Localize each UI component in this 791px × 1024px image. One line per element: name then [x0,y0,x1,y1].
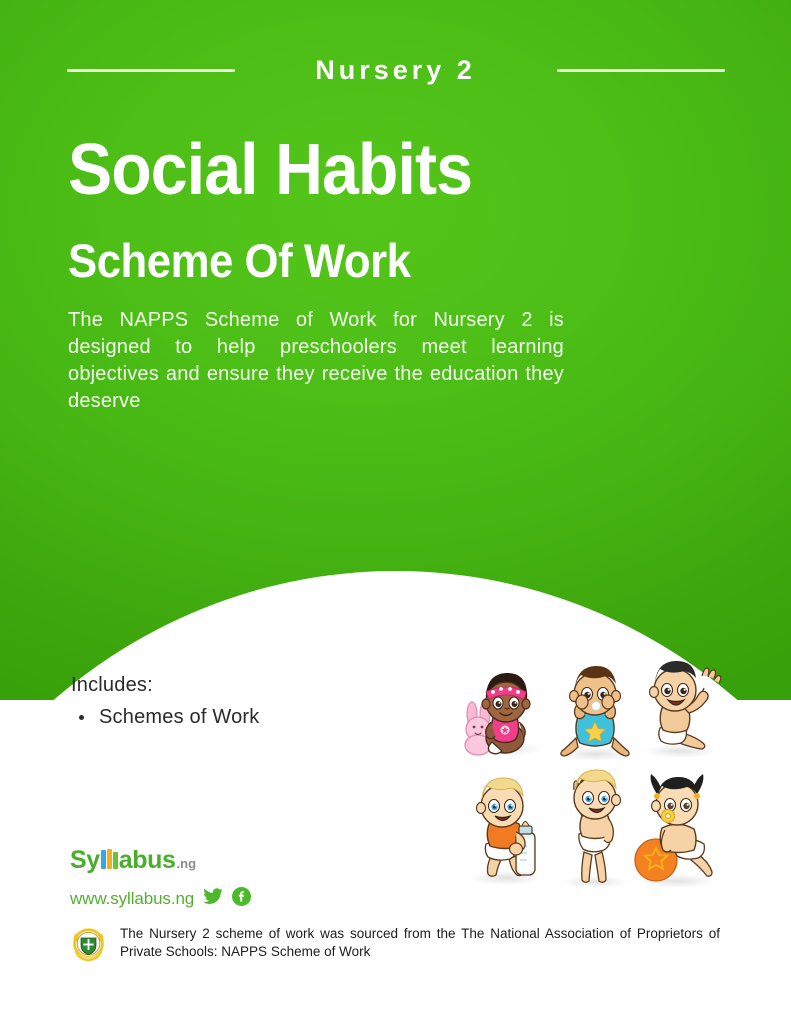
baby-girl-with-pink-headband-and-bunny [465,673,542,756]
list-item: Schemes of Work [71,704,259,731]
source-attribution: The Nursery 2 scheme of work was sourced… [70,925,730,968]
stacked-books-icon [101,849,118,869]
includes-section: Includes: Schemes of Work [71,672,259,731]
syllabus-logo[interactable]: Sy abus .ng [70,846,251,878]
logo-text-part2: abus [119,846,176,874]
baby-girl-with-pacifier-and-orange-ball [635,774,715,888]
list-item-label: Schemes of Work [99,706,259,728]
page-subtitle: Scheme Of Work [68,232,410,290]
bullet-dot-icon [79,715,84,720]
includes-heading: Includes: [71,672,259,698]
includes-list: Schemes of Work [71,704,259,731]
nigeria-coat-of-arms-emblem [70,926,107,968]
brand-block: Sy abus .ng www.syllabus.ng [70,846,251,911]
cover-description: The NAPPS Scheme of Work for Nursery 2 i… [68,307,564,415]
brand-links-row: www.syllabus.ng [70,887,251,911]
baby-standing-arm-raised [562,770,628,888]
website-url-link[interactable]: www.syllabus.ng [70,889,194,909]
logo-tld: .ng [177,850,197,878]
twitter-icon[interactable] [203,888,223,911]
class-level-label: Nursery 2 [235,55,557,85]
page-title: Social Habits [68,128,472,212]
six-cartoon-babies-illustration [462,646,728,898]
facebook-icon[interactable] [232,887,251,911]
eyebrow-row: Nursery 2 [0,55,791,85]
logo-text-part1: Sy [70,846,100,874]
baby-boy-in-blue-star-onesie [559,666,631,761]
cover-page: Nursery 2 Social Habits Scheme Of Work T… [0,0,791,1024]
eyebrow-rule-left [67,69,235,72]
source-note-text: The Nursery 2 scheme of work was sourced… [120,925,720,961]
baby-waving-hand [644,661,721,758]
baby-in-orange-shirt-with-milk-bottle [470,778,542,885]
eyebrow-rule-right [557,69,725,72]
